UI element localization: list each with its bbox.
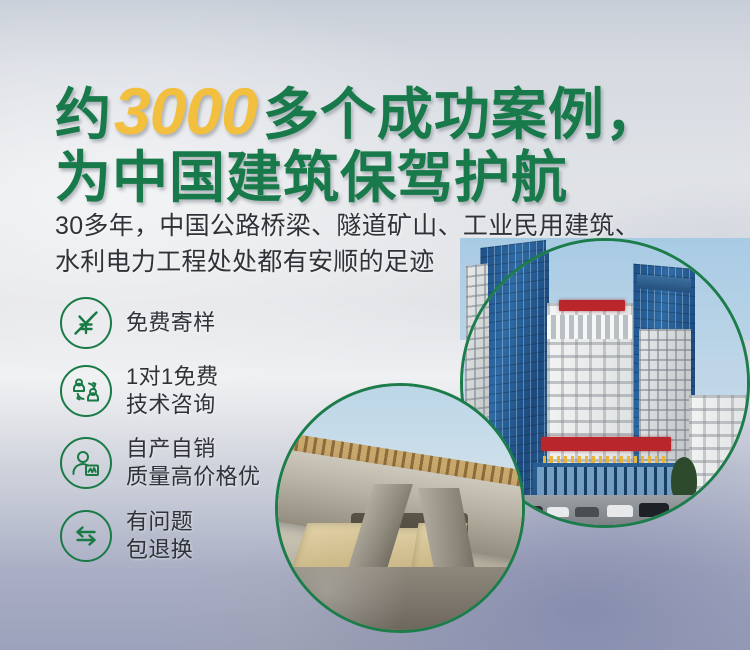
promo-banner: 约3000多个成功案例， 为中国建筑保驾护航 30多年，中国公路桥梁、隧道矿山、…: [0, 0, 750, 650]
headline-prefix: 约: [55, 83, 112, 146]
feature-line: 质量高价格优: [126, 463, 260, 491]
no-fee-yen-icon: [60, 297, 112, 349]
feature-line: 包退换: [126, 536, 193, 564]
headline-number: 3000: [114, 74, 257, 148]
feature-line: 自产自销: [126, 435, 260, 463]
headline-suffix: 多个成功案例，: [263, 83, 662, 146]
headline: 约3000多个成功案例， 为中国建筑保驾护航: [55, 78, 662, 206]
headline-line-2: 为中国建筑保驾护航: [55, 150, 662, 206]
person-chart-icon: [60, 437, 112, 489]
feature-line: 技术咨询: [126, 391, 218, 419]
subtitle-line-1: 30多年，中国公路桥梁、隧道矿山、工业民用建筑、: [55, 209, 715, 245]
bridge-photo: [275, 383, 525, 633]
feature-item-text: 免费寄样: [126, 309, 216, 337]
feature-item-return-exchange[interactable]: 有问题 包退换: [60, 508, 260, 564]
two-people-exchange-icon: [60, 365, 112, 417]
bridge-scene: [278, 386, 522, 630]
subtitle-line-2: 水利电力工程处处都有安顺的足迹: [55, 245, 715, 281]
feature-item-self-production[interactable]: 自产自销 质量高价格优: [60, 435, 260, 491]
feature-item-consultation[interactable]: 1对1免费 技术咨询: [60, 363, 260, 419]
feature-line: 1对1免费: [126, 363, 218, 391]
feature-line: 免费寄样: [126, 309, 216, 337]
subtitle: 30多年，中国公路桥梁、隧道矿山、工业民用建筑、 水利电力工程处处都有安顺的足迹: [55, 209, 715, 280]
feature-item-free-sample[interactable]: 免费寄样: [60, 297, 260, 349]
headline-line-1: 约3000多个成功案例，: [55, 78, 662, 144]
feature-item-text: 1对1免费 技术咨询: [126, 363, 218, 419]
return-exchange-arrows-icon: [60, 510, 112, 562]
feature-item-text: 自产自销 质量高价格优: [126, 435, 260, 491]
feature-item-text: 有问题 包退换: [126, 508, 193, 564]
feature-list: 免费寄样: [60, 297, 260, 578]
feature-line: 有问题: [126, 508, 193, 536]
